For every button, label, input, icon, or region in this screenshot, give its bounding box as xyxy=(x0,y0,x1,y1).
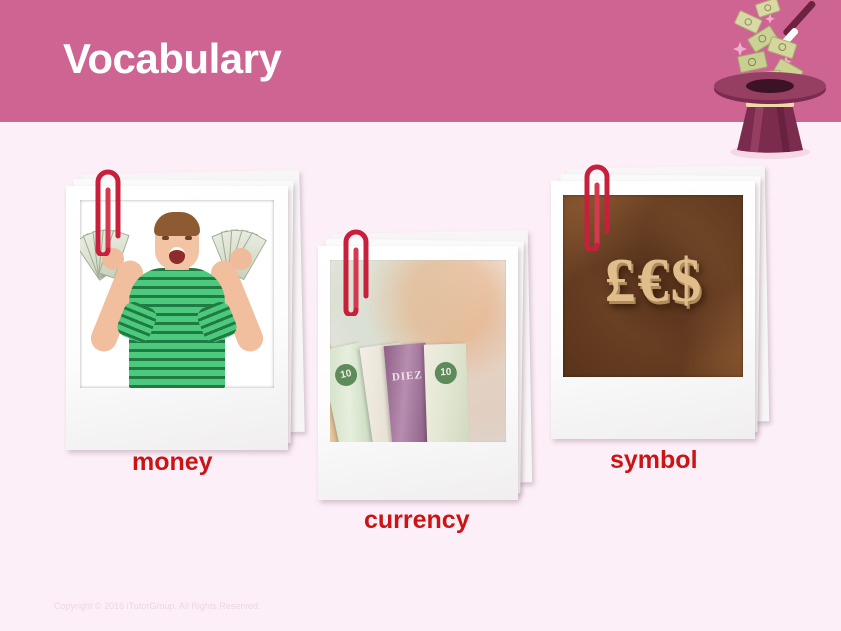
euro-symbol: € xyxy=(638,250,669,312)
banknote-seal: 10 xyxy=(434,362,457,385)
polaroid-card-money[interactable] xyxy=(60,172,310,452)
caption-currency: currency xyxy=(364,506,470,535)
slide-canvas: Vocabulary xyxy=(0,0,841,631)
pound-symbol: £ xyxy=(605,250,636,312)
top-hat-icon xyxy=(714,72,826,159)
red-paperclip-icon xyxy=(334,226,374,316)
symbol-row: £ € $ xyxy=(563,250,743,312)
polaroid-card-symbol[interactable]: £ € $ xyxy=(545,167,775,442)
caption-money: money xyxy=(132,448,213,477)
magic-hat-with-money-icon xyxy=(700,0,841,160)
eye-right xyxy=(185,236,192,240)
banknote-word-diez: DIEZ xyxy=(391,369,423,384)
page-title: Vocabulary xyxy=(63,38,281,80)
hand-right xyxy=(230,248,252,270)
banknote-green-2: 10 xyxy=(424,343,470,442)
red-paperclip-icon xyxy=(86,166,126,256)
copyright-text: Copyright © 2016 iTutorGroup. All Rights… xyxy=(54,601,260,611)
hair xyxy=(154,212,200,236)
dollar-symbol: $ xyxy=(671,250,702,312)
red-paperclip-icon xyxy=(575,161,615,251)
mouth xyxy=(169,247,185,264)
caption-symbol: symbol xyxy=(610,446,698,475)
polaroid-card-currency[interactable]: 10 DIEZ 10 xyxy=(312,232,537,502)
banknote-seal: 10 xyxy=(333,362,359,388)
eye-left xyxy=(162,236,169,240)
